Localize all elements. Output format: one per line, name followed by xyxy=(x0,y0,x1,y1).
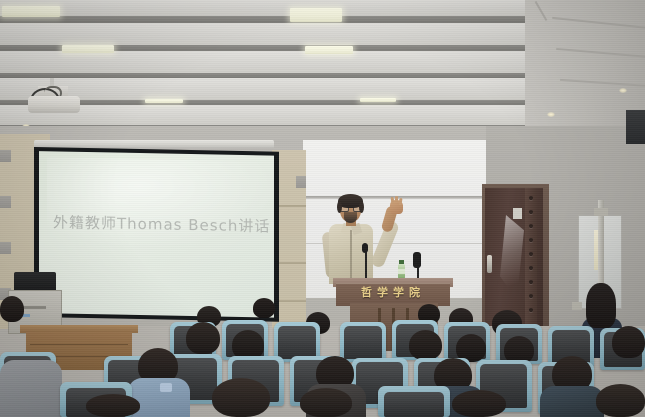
wall-strip xyxy=(0,196,11,208)
chair-back-pad xyxy=(344,326,382,359)
door-stile xyxy=(525,188,537,326)
attendee-shoulders xyxy=(0,360,62,417)
water-bottle-label xyxy=(398,269,405,274)
panel-light xyxy=(290,8,342,22)
chair-back-pad xyxy=(384,392,444,417)
wall-strip xyxy=(0,242,11,254)
projection-screen-surface: 外籍教师Thomas Besch讲话 xyxy=(39,151,274,318)
projection-screen[interactable]: 外籍教师Thomas Besch讲话 xyxy=(34,147,279,322)
microphone xyxy=(362,243,368,253)
panel-light xyxy=(305,46,353,54)
wall-strip xyxy=(296,176,306,188)
attendee-head xyxy=(612,326,645,358)
attendee-head xyxy=(212,378,270,417)
door-handle[interactable] xyxy=(487,255,492,273)
attendee-head xyxy=(253,298,275,318)
chair-back-pad xyxy=(278,326,316,359)
slide-text: 外籍教师Thomas Besch讲话 xyxy=(53,211,268,236)
microphone-stem xyxy=(365,250,367,280)
wall-strip xyxy=(0,150,11,162)
screen-glare xyxy=(47,157,277,251)
lecture-hall-photo: 外籍教师Thomas Besch讲话 xyxy=(0,0,645,417)
microphone xyxy=(413,252,421,268)
ceiling xyxy=(0,0,645,140)
door-plate xyxy=(513,208,522,219)
panel-light xyxy=(145,99,183,103)
attendee-head xyxy=(186,322,220,354)
attendee-head xyxy=(300,388,352,417)
panel-light xyxy=(62,45,114,53)
panel-light xyxy=(2,6,60,17)
attendee-head xyxy=(409,330,442,360)
downlight xyxy=(547,112,555,117)
panel-light xyxy=(360,98,396,102)
attendee-head xyxy=(0,296,24,322)
downlight xyxy=(619,88,627,93)
attendee-head xyxy=(86,394,140,417)
attendee-head xyxy=(452,390,506,417)
lectern-sign-text: 哲学学院 xyxy=(336,284,450,300)
wall-speaker xyxy=(626,110,645,144)
attendee-head xyxy=(596,384,645,417)
attendee-badge xyxy=(160,383,172,392)
attendee-shoulders xyxy=(540,386,604,417)
